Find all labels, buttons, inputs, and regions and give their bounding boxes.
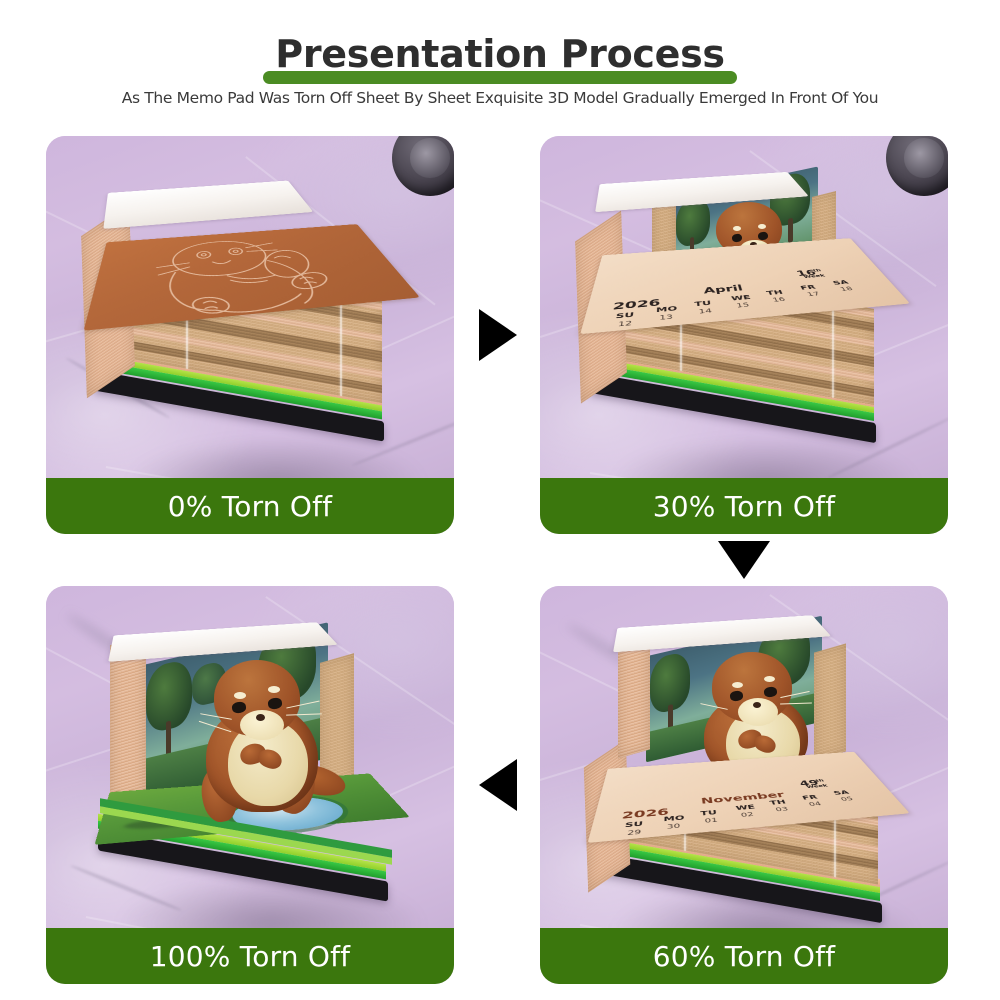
calendar-day: 12 <box>617 320 632 328</box>
otter-brow <box>732 682 743 688</box>
calendar-day: 04 <box>808 801 823 808</box>
panel-0-percent[interactable]: 0% Torn Off <box>46 136 454 534</box>
calendar-day: 30 <box>667 823 681 831</box>
calendar-dow: SU <box>615 311 634 320</box>
calendar-day: 16 <box>772 297 787 304</box>
memo-pad-diorama <box>86 606 416 926</box>
calendar-day: 01 <box>704 817 718 824</box>
page-title-wrap: Presentation Process <box>0 30 1000 82</box>
calendar-day: 03 <box>775 806 790 813</box>
calendar-month: April <box>703 284 744 296</box>
calendar-dow: TU <box>700 809 717 817</box>
calendar-day: 29 <box>627 829 642 837</box>
caption-label: 0% Torn Off <box>168 490 332 523</box>
panel-60-caption: 60% Torn Off <box>540 928 948 984</box>
calendar-dow: MO <box>656 305 677 314</box>
panel-100-photo <box>46 586 454 928</box>
calendar-dow: TH <box>769 799 787 806</box>
calendar-week-suffix: th <box>812 268 822 272</box>
calendar-day: 14 <box>698 308 712 316</box>
panel-60-percent[interactable]: 2026 November 49 th Week SU MO TU WE TH … <box>540 586 948 984</box>
calendar-week-label: Week <box>803 273 826 279</box>
page-subtitle: As The Memo Pad Was Torn Off Sheet By Sh… <box>0 89 1000 107</box>
calendar-year: 2026 <box>612 297 661 312</box>
otter-nose <box>256 714 265 721</box>
calendar-dow: SU <box>624 821 643 830</box>
panel-100-percent[interactable]: 100% Torn Off <box>46 586 454 984</box>
otter-brow <box>234 692 246 699</box>
arrow-left-icon <box>479 759 517 811</box>
calendar-dow: FR <box>801 794 819 801</box>
calendar-day: 17 <box>806 291 821 298</box>
presentation-process-page: Presentation Process As The Memo Pad Was… <box>0 0 1000 1000</box>
otter-brow <box>733 226 741 231</box>
arrow-right-icon <box>479 309 517 361</box>
memo-pad: 2026 April 16 th Week SU MO TU WE TH FR … <box>580 172 900 472</box>
panel-30-percent[interactable]: 2026 April 16 th Week SU MO TU WE TH FR … <box>540 136 948 534</box>
calendar-dow: TH <box>766 289 784 297</box>
panel-grid: 0% Torn Off <box>0 136 1000 1000</box>
calendar-day: 15 <box>736 302 750 309</box>
memo-pad <box>86 174 406 474</box>
arrow-down-icon <box>718 541 770 579</box>
calendar-day: 18 <box>839 286 854 292</box>
calendar-year: 2026 <box>621 806 669 821</box>
calendar-week-suffix: th <box>815 779 825 783</box>
calendar-day: 02 <box>740 812 754 819</box>
otter-nose <box>753 702 761 708</box>
calendar-dow: FR <box>799 284 817 291</box>
panel-30-photo: 2026 April 16 th Week SU MO TU WE TH FR … <box>540 136 948 478</box>
panel-0-photo <box>46 136 454 478</box>
otter-brow <box>764 676 775 682</box>
otter-brow <box>268 686 280 693</box>
panel-60-photo: 2026 November 49 th Week SU MO TU WE TH … <box>540 586 948 928</box>
caption-label: 30% Torn Off <box>653 490 835 523</box>
calendar-dow: TU <box>694 300 712 308</box>
caption-label: 60% Torn Off <box>653 940 835 973</box>
otter-3d-model <box>194 658 344 838</box>
calendar-week-label: Week <box>806 784 829 790</box>
calendar-dow: WE <box>731 294 752 302</box>
panel-30-caption: 30% Torn Off <box>540 478 948 534</box>
top-white-sheets <box>103 181 313 229</box>
otter-brow <box>758 224 766 229</box>
calendar-dow: MO <box>663 815 684 824</box>
caption-label: 100% Torn Off <box>150 940 350 973</box>
calendar-dow: WE <box>735 804 756 812</box>
panel-0-caption: 0% Torn Off <box>46 478 454 534</box>
page-header: Presentation Process As The Memo Pad Was… <box>0 0 1000 126</box>
memo-pad: 2026 November 49 th Week SU MO TU WE TH … <box>584 610 914 928</box>
calendar-dow: SA <box>832 279 851 286</box>
page-title: Presentation Process <box>275 32 724 76</box>
panel-100-caption: 100% Torn Off <box>46 928 454 984</box>
calendar-dow: SA <box>832 790 850 797</box>
calendar-day: 05 <box>840 796 855 802</box>
calendar-day: 13 <box>659 314 673 322</box>
